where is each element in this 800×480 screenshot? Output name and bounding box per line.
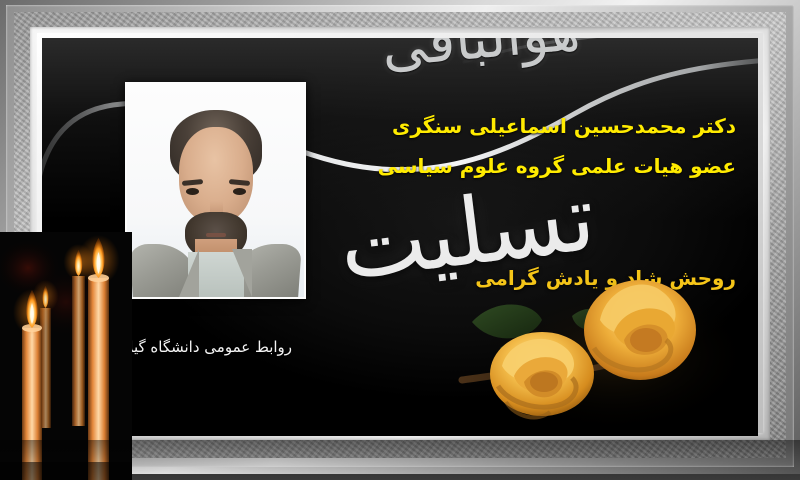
deceased-name: دکتر محمدحسین اسماعیلی سنگری (392, 114, 736, 138)
portrait-lapel-right (232, 249, 252, 297)
portrait-mouth (206, 233, 226, 237)
portrait-lapel-left (179, 249, 199, 297)
header-calligraphy: هوالباقی (397, 38, 583, 84)
portrait-photo (127, 84, 304, 297)
poster-canvas: هوالباقی تسلیت (42, 38, 758, 436)
condolence-poster: هوالباقی تسلیت (0, 0, 800, 480)
credit-line: روابط عمومی دانشگاه گیلان (114, 338, 292, 356)
condolence-wish: روحش شاد و یادش گرامی (475, 266, 736, 290)
deceased-role: عضو هیات علمی گروه علوم سیاسی (378, 154, 736, 178)
portrait-photo-frame (125, 82, 306, 299)
